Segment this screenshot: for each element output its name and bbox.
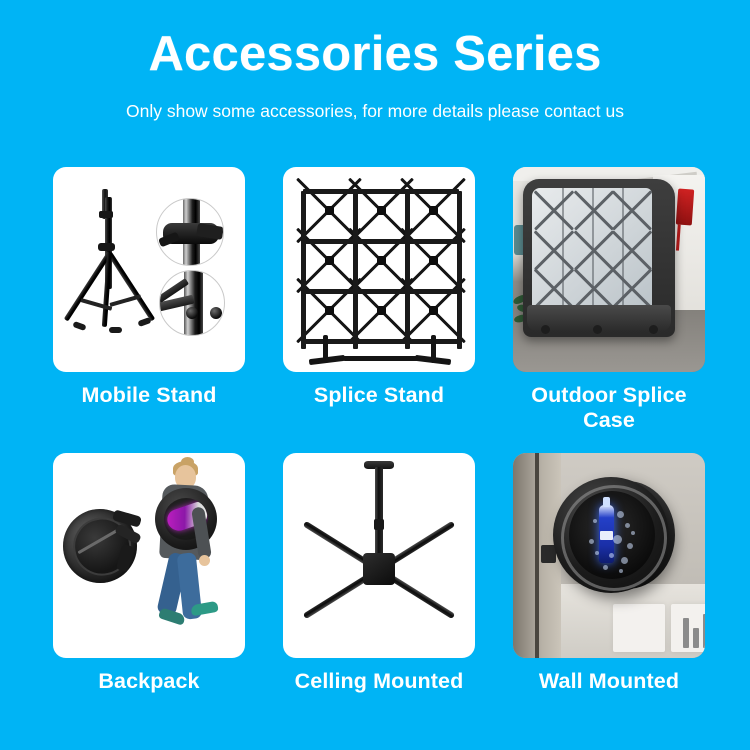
product-label: Mobile Stand [53, 383, 245, 408]
lattice-crossbar [303, 239, 459, 244]
lattice-joint [325, 256, 334, 265]
lattice-joint [429, 256, 438, 265]
outdoor-splice-case-photo [513, 167, 705, 372]
clamp-detail-inset-icon [156, 198, 224, 266]
page-subtitle: Only show some accessories, for more det… [0, 102, 750, 121]
hologram-splash-particle [619, 569, 623, 573]
hologram-splash-particle [595, 551, 599, 555]
lattice-crossbar [303, 189, 459, 194]
product-grid-row-1: Mobile Stand Splice Stand [53, 167, 697, 434]
page-title: Accessories Series [0, 30, 750, 79]
lattice-joint [429, 206, 438, 215]
product-card-wall-mounted[interactable]: Wall Mounted [513, 453, 705, 694]
product-image-backpack [53, 453, 245, 658]
hologram-splash-particle [593, 519, 597, 523]
lattice-crossbar [303, 289, 459, 294]
lattice-post [405, 191, 410, 349]
product-image-splice-stand [283, 167, 475, 372]
product-card-splice-stand[interactable]: Splice Stand [283, 167, 475, 434]
hologram-splash-particle [621, 557, 628, 564]
lattice-joint [325, 206, 334, 215]
product-label: Wall Mounted [513, 669, 705, 694]
product-card-outdoor-splice-case[interactable]: Outdoor Splice Case [513, 167, 705, 434]
tripod-stand-icon [53, 167, 245, 372]
product-label: Celling Mounted [283, 669, 475, 694]
product-image-mobile-stand [53, 167, 245, 372]
hologram-splash-particle [617, 511, 624, 518]
lattice-joint [377, 256, 386, 265]
lattice-joint [325, 306, 334, 315]
product-grid-row-2: Backpack Celling Mounted [53, 453, 697, 694]
hologram-splash-particle [627, 543, 633, 549]
product-label: Splice Stand [283, 383, 475, 408]
hologram-splash-particle [631, 531, 635, 535]
backpack-photo [53, 453, 245, 658]
product-image-outdoor-splice-case [513, 167, 705, 372]
banner-header: Accessories Series Only show some access… [0, 0, 750, 121]
splice-stand-icon [283, 167, 475, 372]
product-card-backpack[interactable]: Backpack [53, 453, 245, 694]
lattice-joint [377, 206, 386, 215]
hologram-splash-particle [613, 535, 622, 544]
lattice-post [301, 191, 306, 349]
hologram-splash-particle [609, 553, 614, 558]
product-card-celling-mounted[interactable]: Celling Mounted [283, 453, 475, 694]
product-label: Outdoor Splice Case [513, 383, 705, 434]
lattice-joint [429, 306, 438, 315]
product-card-mobile-stand[interactable]: Mobile Stand [53, 167, 245, 434]
product-image-celling-mounted [283, 453, 475, 658]
hologram-splash-particle [603, 565, 608, 570]
product-label: Backpack [53, 669, 245, 694]
accessories-series-banner: Accessories Series Only show some access… [0, 0, 750, 750]
wall-mounted-photo [513, 453, 705, 658]
hologram-splash-particle [625, 523, 630, 528]
bolt-detail-inset-icon [159, 270, 225, 336]
lattice-joint [377, 306, 386, 315]
lattice-post [353, 191, 358, 349]
hologram-splash-particle [589, 539, 594, 544]
ceiling-mounted-fan-icon [283, 453, 475, 658]
product-image-wall-mounted [513, 453, 705, 658]
lattice-post [457, 191, 462, 349]
